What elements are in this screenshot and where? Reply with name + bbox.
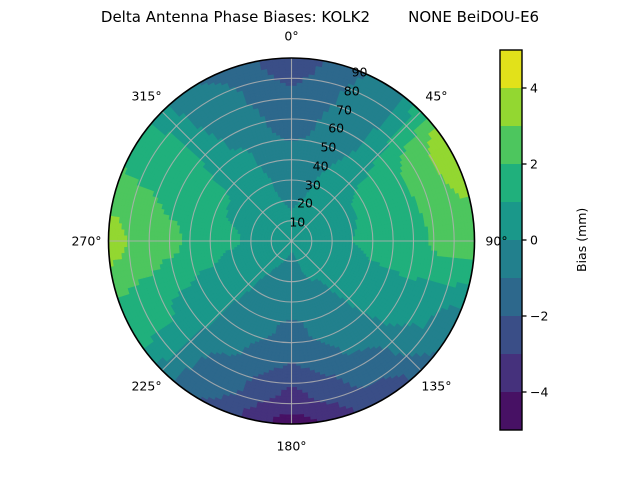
r-tick-label-20: 20 (297, 196, 313, 211)
r-tick-label-70: 70 (336, 102, 352, 117)
polar-grid (109, 58, 475, 424)
theta-tick-label-0: 0° (284, 29, 298, 44)
r-tick-label-80: 80 (344, 83, 360, 98)
r-tick-label-50: 50 (320, 140, 336, 155)
colorbar-tick-label-3: −2 (530, 309, 548, 324)
r-tick-label-40: 40 (313, 158, 329, 173)
figure-canvas: Delta Antenna Phase Biases: KOLK2 NONE B… (0, 0, 640, 480)
theta-tick-label-180: 180° (276, 439, 306, 454)
colorbar-tick-label-0: 4 (530, 81, 538, 96)
r-tick-label-10: 10 (289, 215, 305, 230)
colorbar-tick-label-2: 0 (530, 233, 538, 248)
colorbar-tick-label-4: −4 (530, 385, 548, 400)
colorbar-axis-title: Bias (mm) (574, 208, 589, 272)
theta-tick-label-45: 45° (425, 89, 447, 104)
r-tick-label-90: 90 (352, 64, 368, 79)
r-tick-label-30: 30 (305, 177, 321, 192)
theta-tick-label-90: 90° (485, 234, 507, 249)
theta-tick-label-315: 315° (131, 89, 161, 104)
theta-tick-label-135: 135° (421, 378, 451, 393)
r-tick-label-60: 60 (328, 121, 344, 136)
colorbar-tick-label-1: 2 (530, 157, 538, 172)
theta-tick-label-270: 270° (71, 234, 101, 249)
theta-tick-label-225: 225° (131, 378, 161, 393)
